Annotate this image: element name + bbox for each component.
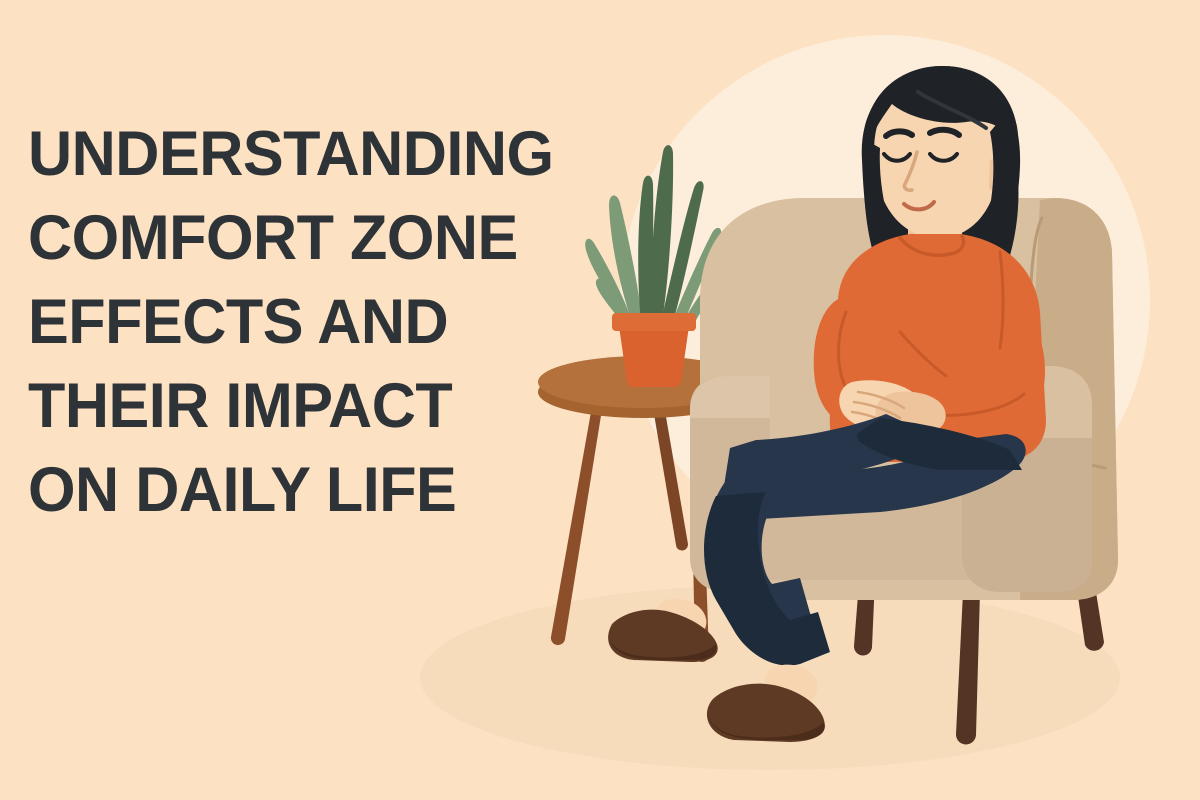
table-leg-left: [551, 395, 604, 645]
poster-canvas: UNDERSTANDING COMFORT ZONE EFFECTS AND T…: [0, 0, 1200, 800]
chair-leg-center: [956, 592, 980, 745]
pot-rim: [612, 313, 696, 331]
illustration-woman-in-armchair: [0, 0, 1200, 800]
pot-body: [619, 326, 689, 387]
